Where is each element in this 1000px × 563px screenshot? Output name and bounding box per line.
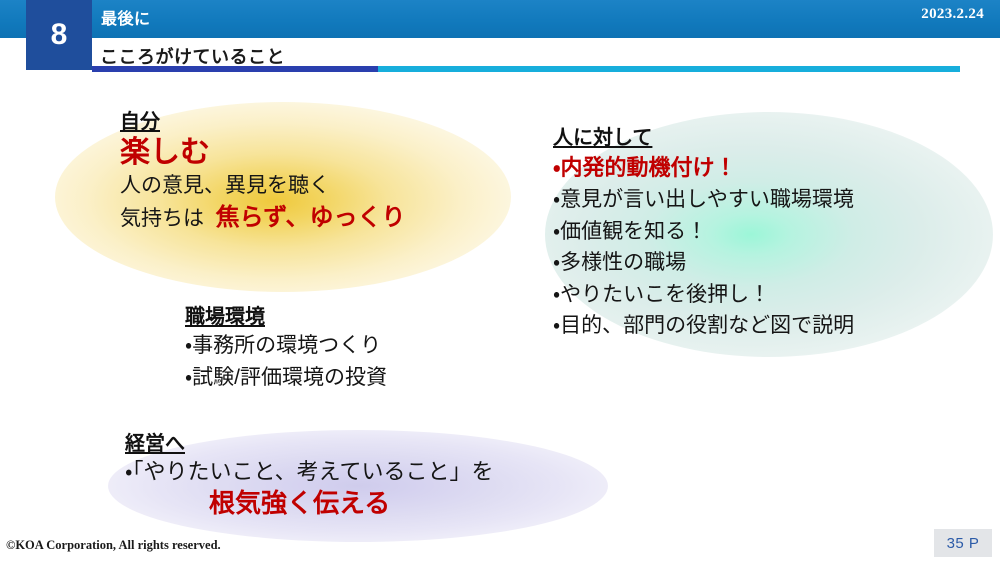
list-item: ・意見が言い出しやすい職場環境 (553, 184, 854, 216)
section-workplace: 職場環境 ・事務所の環境つくり ・試験/評価環境の投資 (185, 305, 387, 393)
section-self-line2-emphasis: 焦らず、ゆっくり (216, 204, 406, 231)
section-people: 人に対して ・内発的動機付け！ ・意見が言い出しやすい職場環境 ・価値観を知る！… (553, 126, 854, 342)
slide-canvas: 8 最後に 2023.2.24 こころがけていること 自分 楽しむ 人の意見、異… (0, 0, 1000, 563)
list-item: ・試験/評価環境の投資 (185, 362, 387, 394)
header-rule-cyan (378, 66, 960, 72)
list-item: ・やりたいこを後押し！ (553, 279, 854, 311)
section-self-line2-prefix: 気持ちは (120, 207, 204, 230)
slide-number-badge: 8 (26, 0, 92, 70)
presentation-date: 2023.2.24 (921, 6, 984, 23)
copyright-notice: ©KOA Corporation, All rights reserved. (6, 538, 221, 553)
section-self: 自分 楽しむ 人の意見、異見を聴く 気持ちは 焦らず、ゆっくり (120, 110, 406, 236)
section-self-heading: 自分 (120, 110, 406, 135)
list-item: ・価値観を知る！ (553, 216, 854, 248)
list-item: ・目的、部門の役割など図で説明 (553, 310, 854, 342)
list-item: ・事務所の環境つくり (185, 330, 387, 362)
list-item: ・内発的動機付け！ (553, 151, 854, 184)
section-management-heading: 経営へ (125, 432, 494, 457)
section-self-line2: 気持ちは 焦らず、ゆっくり (120, 201, 406, 236)
page-number-badge: 35 P (934, 529, 992, 557)
slide-number: 8 (51, 20, 68, 50)
section-self-highlight: 楽しむ (120, 135, 406, 171)
section-workplace-heading: 職場環境 (185, 305, 387, 330)
header-rule-dark (92, 66, 378, 72)
list-item: ・多様性の職場 (553, 247, 854, 279)
section-management-emphasis: 根気強く伝える (209, 487, 494, 521)
section-self-line1: 人の意見、異見を聴く (120, 171, 406, 201)
page-number: 35 P (947, 535, 980, 552)
section-management: 経営へ ・「やりたいこと、考えていること」を 根気強く伝える (125, 432, 494, 520)
page-title: 最後に (101, 5, 151, 29)
section-people-heading: 人に対して (553, 126, 854, 151)
list-item: ・「やりたいこと、考えていること」を (125, 457, 494, 487)
